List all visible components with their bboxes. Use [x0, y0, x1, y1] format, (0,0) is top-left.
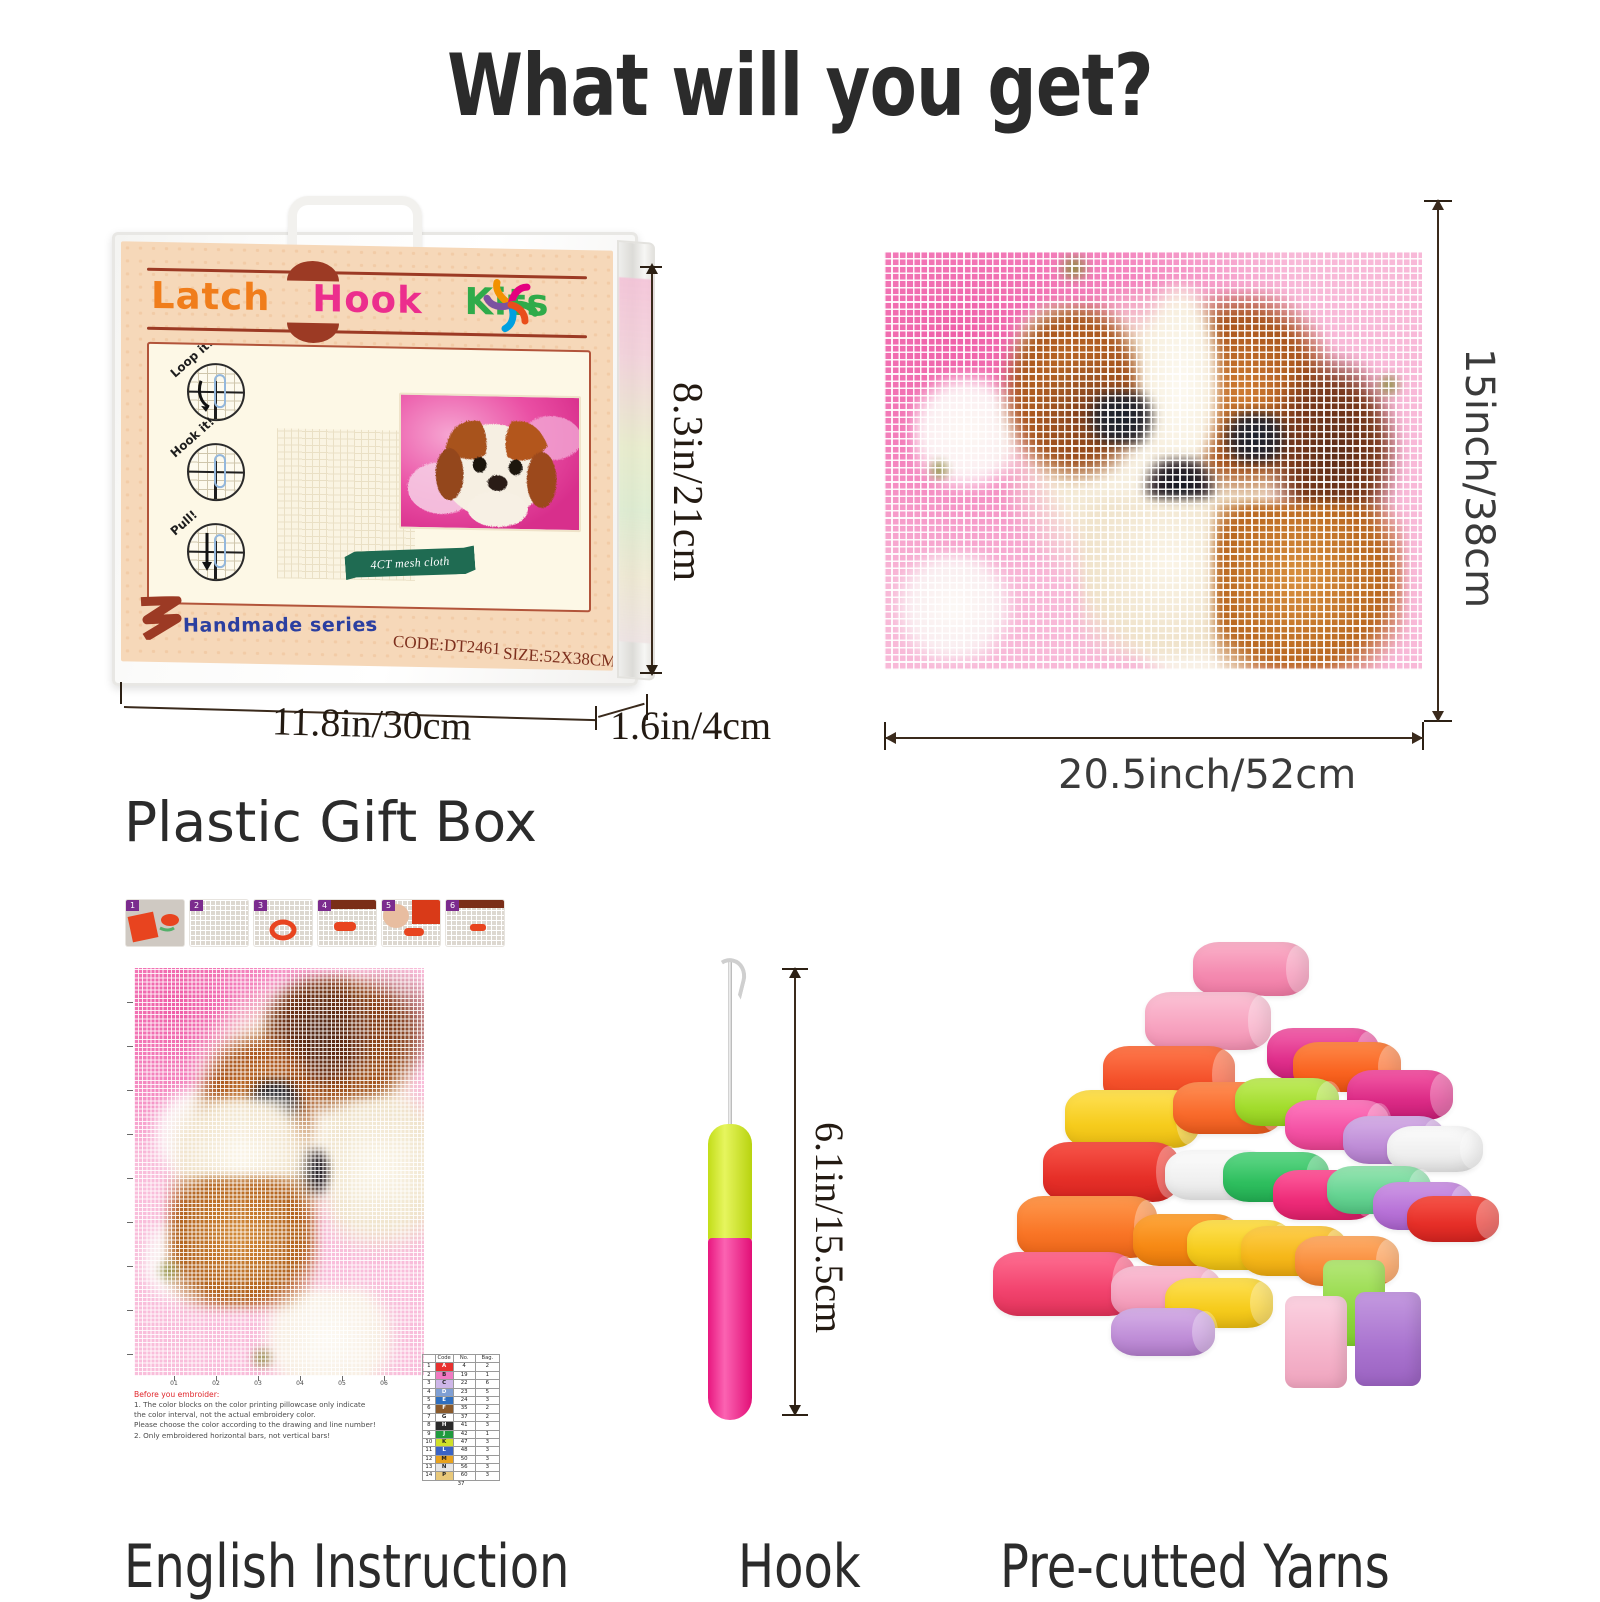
th-no: No. — [453, 1355, 475, 1363]
code-swatch: M — [436, 1456, 453, 1463]
cell-code: E — [435, 1396, 453, 1404]
cell-no: 23 — [453, 1388, 475, 1396]
hook-tip-icon — [708, 954, 750, 999]
step-circle-hook — [187, 443, 245, 502]
cell-no: 50 — [453, 1455, 475, 1463]
caption-pre-cutted-yarns: Pre-cutted Yarns — [1000, 1532, 1390, 1602]
thumb-badge-2: 2 — [190, 900, 203, 911]
plastic-shell-side — [617, 240, 655, 681]
code-swatch: L — [436, 1447, 453, 1454]
cell-no: 19 — [453, 1371, 475, 1379]
yarn-loop-mark-2 — [214, 454, 226, 488]
cell-bag: 3 — [475, 1464, 499, 1472]
code-swatch: H — [436, 1422, 453, 1429]
cell-no: 42 — [453, 1430, 475, 1438]
box-width-label: 11.8in/30cm — [271, 697, 472, 750]
thumb-badge-4: 4 — [318, 900, 331, 911]
code-swatch: J — [436, 1431, 453, 1438]
cell-bag: 1 — [475, 1430, 499, 1438]
code-swatch: K — [436, 1439, 453, 1446]
cell-no: 24 — [453, 1396, 475, 1404]
code-swatch: B — [436, 1372, 453, 1379]
cell-index: 10 — [423, 1438, 436, 1446]
cell-bag: 5 — [475, 1388, 499, 1396]
cell-no: 37 — [453, 1413, 475, 1421]
arrow-up-icon-canvas — [1430, 198, 1446, 214]
cell-code: J — [435, 1430, 453, 1438]
before-you-embroider-note: Before you embroider: 1. The color block… — [134, 1390, 424, 1441]
step-circle-pull — [187, 523, 245, 582]
cell-no: 35 — [453, 1405, 475, 1413]
cell-bag: 3 — [475, 1422, 499, 1430]
instruction-sheet-figure: 1 2 3 4 — [126, 900, 506, 1480]
cell-index: 8 — [423, 1422, 436, 1430]
zigzag-icon — [137, 596, 185, 641]
yarn-bundle — [1043, 1142, 1179, 1202]
instruction-page: 01 02 03 04 05 06 Before you embroider: … — [126, 962, 504, 1480]
cell-index: 11 — [423, 1447, 436, 1455]
yarn-bundle — [1193, 942, 1309, 996]
ruler-h-label: 05 — [338, 1380, 346, 1387]
cell-index: 7 — [423, 1413, 436, 1421]
table-row: 9J421 — [423, 1430, 500, 1438]
step-thumbnail: 4 — [318, 900, 376, 946]
thumb-badge-5: 5 — [382, 900, 395, 911]
cell-index: 1 — [423, 1363, 436, 1371]
cell-code: P — [435, 1472, 453, 1480]
pattern-chart-image — [134, 968, 424, 1376]
step-thumbnail: 1 — [126, 900, 184, 946]
cell-bag: 3 — [475, 1447, 499, 1455]
table-row: 13N563 — [423, 1464, 500, 1472]
th-code: Code — [435, 1355, 453, 1363]
cell-index: 3 — [423, 1380, 436, 1388]
yarn-bundle — [1145, 992, 1271, 1050]
before-note-title: Before you embroider: — [134, 1390, 424, 1399]
rug-photo-art — [401, 395, 579, 530]
arrow-up-icon-hook — [787, 966, 803, 982]
cell-code: D — [435, 1388, 453, 1396]
cell-no: 60 — [453, 1472, 475, 1480]
table-header-row: Code No. Bag. — [423, 1355, 500, 1363]
cell-index: 13 — [423, 1464, 436, 1472]
printed-canvas-figure — [884, 252, 1422, 670]
table-row: 10K473 — [423, 1438, 500, 1446]
thumb-badge-1: 1 — [126, 900, 139, 911]
color-table-total: 37 — [423, 1480, 500, 1488]
cell-bag: 3 — [475, 1438, 499, 1446]
cell-no: 56 — [453, 1464, 475, 1472]
code-swatch: F — [436, 1405, 453, 1412]
box-depth-label: 1.6in/4cm — [610, 702, 771, 749]
pattern-ruler-horizontal: 01 02 03 04 05 06 — [134, 1376, 424, 1384]
cell-bag: 6 — [475, 1380, 499, 1388]
arrow-down-icon-canvas — [1430, 708, 1446, 724]
yarn-glimpse — [619, 277, 653, 644]
code-swatch: D — [436, 1389, 453, 1396]
step-thumbnail: 5 — [382, 900, 440, 946]
yarn-bundle — [1111, 1308, 1215, 1356]
code-swatch: G — [436, 1414, 453, 1421]
table-row: 3C226 — [423, 1380, 500, 1388]
step-thumbnail: 6 — [446, 900, 504, 946]
table-row: 1A42 — [423, 1363, 500, 1371]
pinwheel-logo-icon — [479, 272, 543, 337]
handmade-series-label: Handmade series — [183, 614, 378, 637]
cell-index: 6 — [423, 1405, 436, 1413]
cell-index: 9 — [423, 1430, 436, 1438]
th-bag: Bag. — [475, 1355, 499, 1363]
cell-bag: 3 — [475, 1455, 499, 1463]
cell-code: K — [435, 1438, 453, 1446]
color-code-table: Code No. Bag. 1A42 2B191 3C226 4D235 5E2… — [422, 1354, 500, 1488]
handmade-series-quote: ” — [365, 619, 373, 636]
thumb-badge-6: 6 — [446, 900, 459, 911]
box-footer-band: Handmade series ” CODE:DT2461 SIZE:52X38… — [121, 599, 613, 670]
hook-dimension-label: 6.1in/15.5cm — [806, 1122, 853, 1333]
table-row: 11L483 — [423, 1447, 500, 1455]
table-row: 14P603 — [423, 1472, 500, 1480]
gift-box-figure: Latch Hook Kits — [112, 196, 652, 696]
table-row: 5E243 — [423, 1396, 500, 1404]
code-swatch: P — [436, 1472, 453, 1479]
cell-code: B — [435, 1371, 453, 1379]
cell-code: H — [435, 1422, 453, 1430]
cell-bag: 2 — [475, 1405, 499, 1413]
canvas-mosaic — [884, 252, 1422, 670]
ruler-h-label: 02 — [212, 1380, 220, 1387]
canvas-height-label: 15inch/38cm — [1456, 348, 1502, 608]
cell-code: A — [435, 1363, 453, 1371]
yarn-bundles-figure — [955, 930, 1475, 1420]
thumb-badge-3: 3 — [254, 900, 267, 911]
cell-bag: 1 — [475, 1371, 499, 1379]
pull-arrow-icon — [189, 525, 243, 580]
cell-no: 48 — [453, 1447, 475, 1455]
cell-index: 4 — [423, 1388, 436, 1396]
code-swatch: A — [436, 1363, 453, 1370]
box-printed-card: Latch Hook Kits — [121, 241, 613, 670]
before-note-line: 1. The color blocks on the color printin… — [134, 1400, 424, 1410]
arrow-down-icon — [644, 662, 660, 678]
cell-no: 4 — [453, 1363, 475, 1371]
cell-code: M — [435, 1455, 453, 1463]
ruler-h-label: 01 — [170, 1380, 178, 1387]
table-row: 2B191 — [423, 1371, 500, 1379]
brand-word-hook: Hook — [312, 277, 422, 322]
step-thumbnail: 2 — [190, 900, 248, 946]
box-height-label: 8.3in/21cm — [663, 382, 711, 582]
arrow-up-icon — [644, 262, 660, 278]
cell-no: 22 — [453, 1380, 475, 1388]
box-inner-panel: Loop it! Hook it! — [147, 342, 591, 613]
cell-bag: 2 — [475, 1363, 499, 1371]
infographic-root: What will you get? Latch Hook Kits — [0, 0, 1600, 1600]
cell-bag: 3 — [475, 1396, 499, 1404]
step-thumbnail-strip: 1 2 3 4 — [126, 900, 504, 958]
table-row: 4D235 — [423, 1388, 500, 1396]
hook-handle-bottom — [708, 1238, 752, 1420]
cell-code: N — [435, 1464, 453, 1472]
table-row: 7G372 — [423, 1413, 500, 1421]
th-index — [423, 1355, 436, 1363]
product-code: CODE:DT2461 — [393, 632, 502, 660]
table-total-row: 37 — [423, 1480, 500, 1488]
finished-rug-photo — [399, 393, 581, 532]
table-row: 6F352 — [423, 1405, 500, 1413]
code-swatch: E — [436, 1397, 453, 1404]
arrow-left-icon-canvas — [884, 730, 900, 746]
loop-arrow-icon — [189, 365, 243, 420]
cell-bag: 2 — [475, 1413, 499, 1421]
cell-index: 14 — [423, 1472, 436, 1480]
arrow-right-icon-canvas — [1408, 730, 1424, 746]
before-note-line: 2. Only embroidered horizontal bars, not… — [134, 1431, 424, 1441]
pattern-ruler-vertical — [126, 968, 134, 1376]
cell-code: G — [435, 1413, 453, 1421]
table-row: 8H413 — [423, 1422, 500, 1430]
code-swatch: C — [436, 1380, 453, 1387]
cell-bag: 3 — [475, 1472, 499, 1480]
ruler-h-label: 06 — [380, 1380, 388, 1387]
cell-no: 47 — [453, 1438, 475, 1446]
cell-index: 12 — [423, 1455, 436, 1463]
caption-hook: Hook — [738, 1532, 861, 1602]
caption-english-instruction: English Instruction — [124, 1532, 569, 1602]
brand-word-latch: Latch — [151, 274, 271, 319]
before-note-line: Please choose the color according to the… — [134, 1420, 424, 1430]
step-circle-loop — [187, 363, 245, 422]
hook-handle-top — [708, 1124, 752, 1242]
cell-code: L — [435, 1447, 453, 1455]
caption-plastic-gift-box: Plastic Gift Box — [124, 790, 537, 854]
ruler-h-label: 03 — [254, 1380, 262, 1387]
yarn-tube — [1285, 1296, 1347, 1388]
code-swatch: N — [436, 1464, 453, 1471]
page-title: What will you get? — [160, 36, 1440, 136]
cell-index: 2 — [423, 1371, 436, 1379]
cell-index: 5 — [423, 1396, 436, 1404]
table-row: 12M503 — [423, 1455, 500, 1463]
cell-code: C — [435, 1380, 453, 1388]
before-note-line: the color interval, not the actual embro… — [134, 1410, 424, 1420]
canvas-width-label: 20.5inch/52cm — [1058, 752, 1356, 798]
yarn-bundle — [1407, 1196, 1499, 1242]
product-size: SIZE:52X38CM — [503, 644, 613, 671]
cell-code: F — [435, 1405, 453, 1413]
ruler-h-label: 04 — [296, 1380, 304, 1387]
cell-no: 41 — [453, 1422, 475, 1430]
arrow-down-icon-hook — [787, 1402, 803, 1418]
yarn-tube — [1355, 1292, 1421, 1386]
step-thumbnail: 3 — [254, 900, 312, 946]
